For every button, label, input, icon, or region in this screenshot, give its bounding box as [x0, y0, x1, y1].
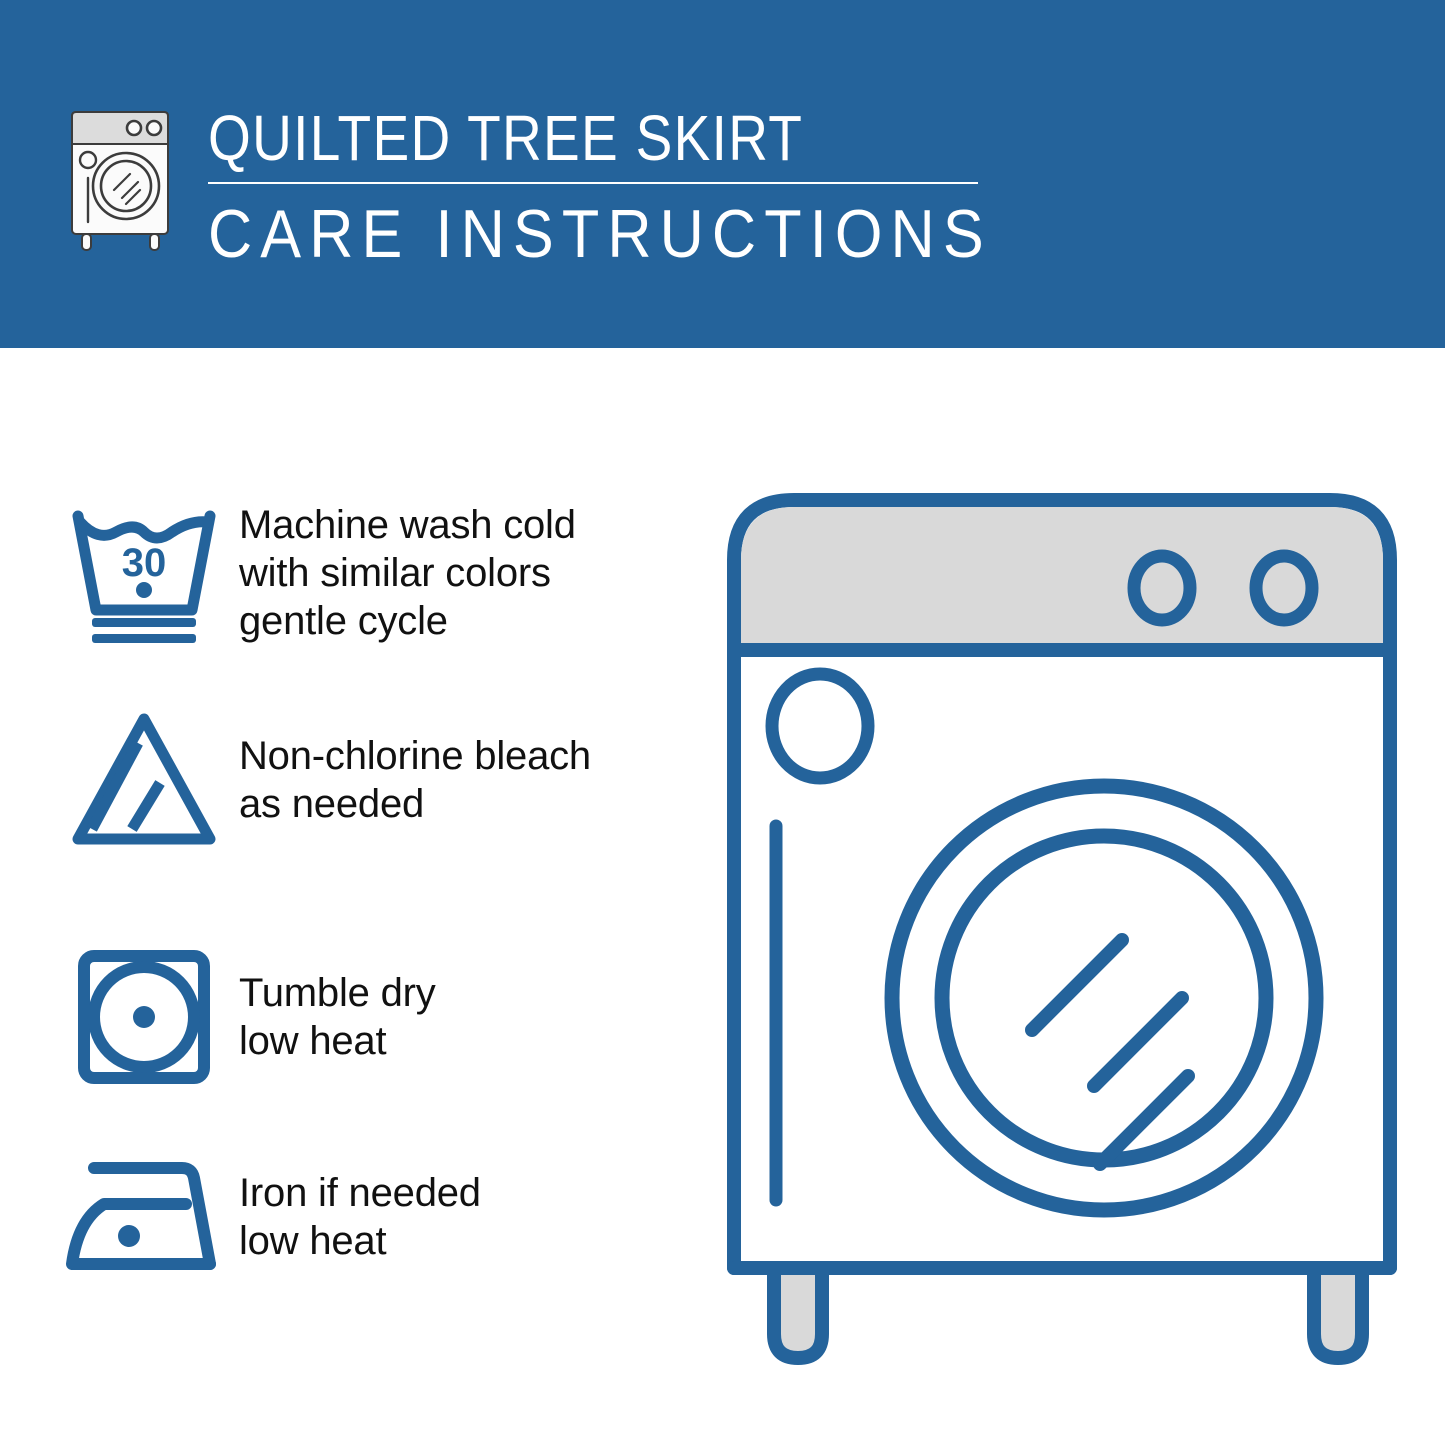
care-label-tumble-dry: Tumble dry low heat [239, 969, 436, 1065]
care-label-machine-wash: Machine wash cold with similar colors ge… [239, 501, 576, 645]
washing-machine-icon [64, 104, 184, 254]
tumble-dry-icon [64, 942, 239, 1092]
care-row-machine-wash: 30 Machine wash cold with similar colors… [64, 498, 684, 648]
care-row-iron: Iron if needed low heat [64, 1152, 684, 1282]
header-banner: QUILTED TREE SKIRT CARE INSTRUCTIONS [0, 0, 1445, 348]
care-row-bleach: Non-chlorine bleach as needed [64, 706, 684, 854]
care-row-tumble-dry: Tumble dry low heat [64, 944, 684, 1089]
title-divider [208, 182, 978, 184]
care-instructions-infographic: QUILTED TREE SKIRT CARE INSTRUCTIONS 30 … [0, 0, 1445, 1445]
front-load-washing-machine-illustration [722, 478, 1402, 1368]
page-subtitle: CARE INSTRUCTIONS [208, 196, 946, 272]
iron-icon [64, 1152, 239, 1282]
care-label-bleach: Non-chlorine bleach as needed [239, 732, 591, 828]
bleach-triangle-icon [64, 705, 239, 855]
wash-tub-icon: 30 [64, 498, 239, 648]
page-title: QUILTED TREE SKIRT [208, 102, 913, 174]
header-title-block: QUILTED TREE SKIRT CARE INSTRUCTIONS [208, 102, 1028, 272]
wash-temperature-label: 30 [122, 541, 167, 585]
care-label-iron: Iron if needed low heat [239, 1169, 481, 1265]
